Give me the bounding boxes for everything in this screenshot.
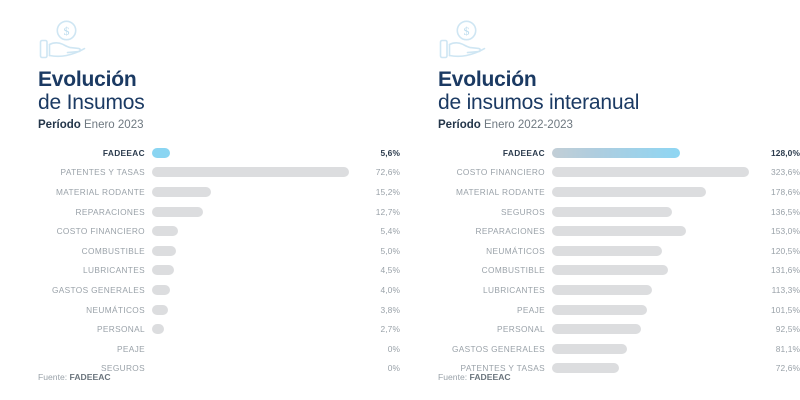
chart-row: COSTO FINANCIERO323,6% [400, 163, 800, 183]
category-label: PERSONAL [30, 324, 145, 334]
bar [552, 246, 662, 256]
subtitle: Período Enero 2023 [38, 119, 145, 131]
chart-row: PERSONAL92,5% [400, 319, 800, 339]
bar [152, 148, 170, 158]
category-label: GASTOS GENERALES [30, 285, 145, 295]
bar [552, 344, 627, 354]
bar [552, 324, 641, 334]
bar [552, 148, 680, 158]
chart-row: GASTOS GENERALES81,1% [400, 339, 800, 359]
chart-row: GASTOS GENERALES4,0% [0, 280, 400, 300]
bar-track [152, 363, 349, 373]
bar-track [552, 148, 749, 158]
bar-track [552, 167, 749, 177]
bar-track [552, 226, 749, 236]
bar [152, 265, 174, 275]
chart-row: LUBRICANTES4,5% [0, 261, 400, 281]
bar-track [152, 207, 349, 217]
chart-row: SEGUROS136,5% [400, 202, 800, 222]
source-note: Fuente: FADEEAC [438, 372, 511, 382]
bar [152, 305, 168, 315]
category-label: FADEEAC [430, 148, 545, 158]
value-label: 113,3% [756, 285, 800, 295]
value-label: 5,0% [356, 246, 400, 256]
value-label: 92,5% [756, 324, 800, 334]
category-label: COSTO FINANCIERO [30, 226, 145, 236]
chart-row: MATERIAL RODANTE178,6% [400, 182, 800, 202]
chart-row: PATENTES Y TASAS72,6% [0, 163, 400, 183]
bar-track [552, 246, 749, 256]
value-label: 153,0% [756, 226, 800, 236]
category-label: FADEEAC [30, 148, 145, 158]
chart-row: REPARACIONES12,7% [0, 202, 400, 222]
value-label: 4,5% [356, 265, 400, 275]
title-light: de insumos interanual [438, 91, 639, 114]
bar-track [552, 187, 749, 197]
bar [552, 285, 652, 295]
subtitle-light: Enero 2023 [84, 119, 143, 131]
bar-track [152, 344, 349, 354]
source-value: FADEEAC [70, 372, 111, 382]
chart-row: FADEEAC5,6% [0, 143, 400, 163]
bar-track [152, 305, 349, 315]
value-label: 136,5% [756, 207, 800, 217]
value-label: 15,2% [356, 187, 400, 197]
category-label: COMBUSTIBLE [30, 246, 145, 256]
category-label: NEUMÁTICOS [430, 246, 545, 256]
title-light: de Insumos [38, 91, 145, 114]
value-label: 72,6% [756, 363, 800, 373]
source-value: FADEEAC [470, 372, 511, 382]
value-label: 5,4% [356, 226, 400, 236]
bar-track [552, 285, 749, 295]
bar [552, 167, 749, 177]
value-label: 120,5% [756, 246, 800, 256]
bar-track [152, 167, 349, 177]
value-label: 12,7% [356, 207, 400, 217]
value-label: 128,0% [756, 148, 800, 158]
svg-text:$: $ [64, 24, 70, 38]
bar-track [552, 207, 749, 217]
category-label: NEUMÁTICOS [30, 305, 145, 315]
subtitle-light: Enero 2022-2023 [484, 119, 573, 131]
bar-track [152, 226, 349, 236]
category-label: SEGUROS [430, 207, 545, 217]
value-label: 72,6% [356, 167, 400, 177]
category-label: MATERIAL RODANTE [30, 187, 145, 197]
panel-evolucion-insumos: $ Evolución de Insumos Período Enero 202… [0, 0, 400, 400]
chart-row: COMBUSTIBLE131,6% [400, 261, 800, 281]
hand-with-dollar-coin-icon: $ [438, 18, 496, 64]
bar [152, 324, 164, 334]
category-label: PEAJE [30, 344, 145, 354]
bar [152, 246, 176, 256]
chart-row: FADEEAC128,0% [400, 143, 800, 163]
value-label: 0% [356, 344, 400, 354]
bar [552, 187, 706, 197]
bar-track [152, 285, 349, 295]
category-label: MATERIAL RODANTE [430, 187, 545, 197]
title-block: Evolución de Insumos Período Enero 2023 [38, 68, 145, 131]
chart-row: LUBRICANTES113,3% [400, 280, 800, 300]
category-label: REPARACIONES [30, 207, 145, 217]
bar-track [552, 265, 749, 275]
category-label: PATENTES Y TASAS [30, 167, 145, 177]
bar-chart-insumos: FADEEAC5,6%PATENTES Y TASAS72,6%MATERIAL… [0, 143, 400, 378]
category-label: COSTO FINANCIERO [430, 167, 545, 177]
bar-track [552, 344, 749, 354]
bar-track [152, 324, 349, 334]
category-label: COMBUSTIBLE [430, 265, 545, 275]
subtitle-strong: Período [438, 119, 481, 131]
bar-track [552, 305, 749, 315]
title-block: Evolución de insumos interanual Período … [438, 68, 639, 131]
category-label: GASTOS GENERALES [430, 344, 545, 354]
chart-row: PERSONAL2,7% [0, 319, 400, 339]
value-label: 2,7% [356, 324, 400, 334]
bar [552, 305, 647, 315]
source-label: Fuente: [38, 372, 67, 382]
chart-row: NEUMÁTICOS3,8% [0, 300, 400, 320]
value-label: 101,5% [756, 305, 800, 315]
chart-row: MATERIAL RODANTE15,2% [0, 182, 400, 202]
bar [552, 265, 668, 275]
chart-row: REPARACIONES153,0% [400, 221, 800, 241]
bar-track [552, 324, 749, 334]
category-label: REPARACIONES [430, 226, 545, 236]
subtitle-strong: Período [38, 119, 81, 131]
title-strong: Evolución [38, 68, 145, 91]
category-label: PEAJE [430, 305, 545, 315]
svg-text:$: $ [464, 24, 470, 38]
chart-row: PEAJE0% [0, 339, 400, 359]
category-label: PERSONAL [430, 324, 545, 334]
bar-track [152, 187, 349, 197]
infographic-page: $ Evolución de Insumos Período Enero 202… [0, 0, 800, 400]
chart-row: NEUMÁTICOS120,5% [400, 241, 800, 261]
bar-track [152, 148, 349, 158]
bar-track [152, 246, 349, 256]
source-note: Fuente: FADEEAC [38, 372, 111, 382]
page-title: Evolución de Insumos [38, 68, 145, 114]
hand-with-dollar-coin-icon: $ [38, 18, 96, 64]
page-title: Evolución de insumos interanual [438, 68, 639, 114]
bar [552, 226, 686, 236]
value-label: 3,8% [356, 305, 400, 315]
value-label: 178,6% [756, 187, 800, 197]
bar [552, 363, 619, 373]
bar-chart-insumos-interanual: FADEEAC128,0%COSTO FINANCIERO323,6%MATER… [400, 143, 800, 378]
title-strong: Evolución [438, 68, 639, 91]
subtitle: Período Enero 2022-2023 [438, 119, 639, 131]
bar [152, 207, 203, 217]
bar-track [552, 363, 749, 373]
chart-row: COSTO FINANCIERO5,4% [0, 221, 400, 241]
bar [552, 207, 672, 217]
bar [152, 187, 211, 197]
value-label: 5,6% [356, 148, 400, 158]
value-label: 4,0% [356, 285, 400, 295]
panel-evolucion-insumos-interanual: $ Evolución de insumos interanual Períod… [400, 0, 800, 400]
value-label: 0% [356, 363, 400, 373]
value-label: 81,1% [756, 344, 800, 354]
category-label: LUBRICANTES [30, 265, 145, 275]
chart-row: COMBUSTIBLE5,0% [0, 241, 400, 261]
bar [152, 167, 349, 177]
value-label: 323,6% [756, 167, 800, 177]
bar [152, 285, 170, 295]
bar [152, 226, 178, 236]
category-label: LUBRICANTES [430, 285, 545, 295]
bar-track [152, 265, 349, 275]
chart-row: PEAJE101,5% [400, 300, 800, 320]
value-label: 131,6% [756, 265, 800, 275]
source-label: Fuente: [438, 372, 467, 382]
